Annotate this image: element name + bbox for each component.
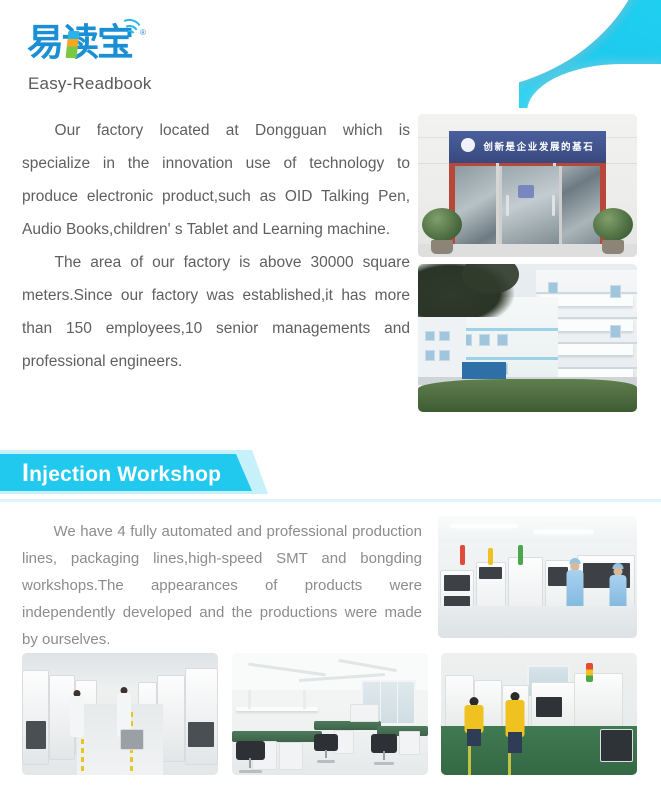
lab-chair	[371, 734, 396, 766]
injection-paragraph-1: We have 4 fully automated and profession…	[22, 518, 422, 653]
section-banner-injection-workshop: Injection Workshop	[0, 450, 661, 494]
entrance-sign-text: 创新是企业发展的基石	[483, 139, 594, 153]
assembly-lab-photo	[232, 653, 428, 775]
page-curl-fold	[527, 64, 661, 108]
page-curl-cyan-field	[519, 0, 661, 108]
smt-operators-photo	[441, 653, 637, 775]
company-logo-icon	[461, 138, 475, 152]
intro-copy-block: Our factory located at Dongguan which is…	[22, 114, 410, 378]
brand-logo: 易读宝 ® Easy-Readbook	[27, 22, 152, 100]
smt-operator	[465, 697, 483, 746]
section-title-rest: njection Workshop	[29, 463, 221, 486]
lab-chair	[236, 741, 265, 773]
factory-office-entrance-photo: 创新是企业发展的基石	[418, 114, 637, 257]
lab-chair	[314, 734, 338, 763]
page-curl-white-sheet	[519, 0, 649, 92]
intro-paragraph-2: The area of our factory is above 30000 s…	[22, 246, 410, 378]
logo-chinese-wordmark: 易读宝	[27, 20, 132, 66]
intro-paragraph-1: Our factory located at Dongguan which is…	[22, 114, 410, 246]
page-curl-decoration	[519, 0, 661, 108]
logo-latin-wordmark: Easy-Readbook	[28, 74, 152, 94]
logo-mark: 易读宝 ®	[27, 22, 145, 70]
smt-cleanroom-photo	[438, 516, 637, 638]
smt-operator	[504, 692, 526, 753]
section-divider-rule	[0, 499, 661, 502]
registered-trademark-icon: ®	[140, 28, 146, 37]
factory-building-photo	[418, 264, 637, 412]
entrance-sign: 创新是企业发展的基石	[449, 131, 607, 163]
page-curl-shine	[539, 66, 659, 100]
production-line-aisle-photo	[22, 653, 218, 775]
injection-copy-block: We have 4 fully automated and profession…	[22, 518, 422, 653]
wifi-signal-icon	[119, 18, 141, 38]
section-title: Injection Workshop	[22, 459, 221, 488]
